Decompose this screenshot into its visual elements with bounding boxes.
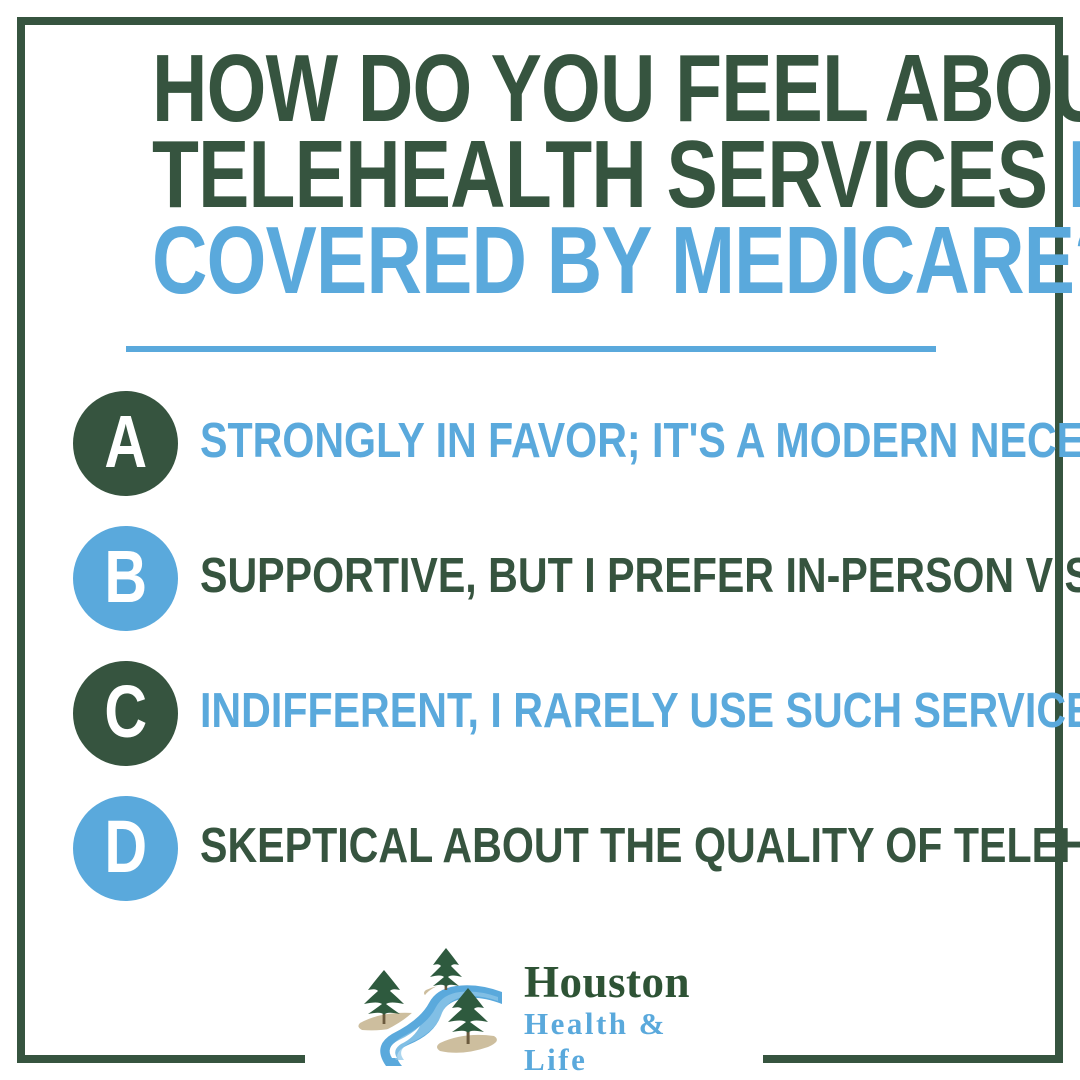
frame-border-top [17,17,1063,25]
frame-border-bottom-right [763,1055,1063,1063]
option-letter-d: D [104,810,147,884]
option-letter-b: B [104,540,147,614]
logo-wordmark: Houston Health & Life [524,958,732,1078]
option-text-c: INDIFFERENT, I RARELY USE SUCH SERVICES. [200,685,897,737]
title-divider-rule [126,346,936,352]
frame-border-bottom-left [17,1055,305,1063]
river-with-trees-icon [352,948,512,1066]
option-badge-b[interactable]: B [73,526,178,631]
brand-logo: Houston Health & Life [352,948,732,1066]
option-badge-c[interactable]: C [73,661,178,766]
option-text-a: STRONGLY IN FAVOR; IT'S A MODERN NECESSI… [200,415,897,467]
page-title: HOW DO YOU FEEL ABOUT TELEHEALTH SERVICE… [55,46,1025,304]
option-badge-d[interactable]: D [73,796,178,901]
poll-option-c[interactable]: C INDIFFERENT, I RARELY USE SUCH SERVICE… [0,652,1080,787]
logo-name: Houston [524,958,732,1006]
poll-option-b[interactable]: B SUPPORTIVE, BUT I PREFER IN-PERSON VIS… [0,517,1080,652]
option-text-b: SUPPORTIVE, BUT I PREFER IN-PERSON VISIT… [200,550,897,602]
title-line-1: HOW DO YOU FEEL ABOUT [152,46,928,132]
option-text-d: SKEPTICAL ABOUT THE QUALITY OF TELEHEALT… [200,820,897,872]
poll-option-a[interactable]: A STRONGLY IN FAVOR; IT'S A MODERN NECES… [0,382,1080,517]
poll-option-d[interactable]: D SKEPTICAL ABOUT THE QUALITY OF TELEHEA… [0,787,1080,922]
poll-options-list: A STRONGLY IN FAVOR; IT'S A MODERN NECES… [0,382,1080,922]
poll-graphic-canvas: HOW DO YOU FEEL ABOUT TELEHEALTH SERVICE… [0,0,1080,1080]
title-line-3: COVERED BY MEDICARE? [152,218,928,304]
title-line-2: TELEHEALTH SERVICES BEING [152,132,928,218]
logo-tagline: Health & Life [524,1006,732,1078]
option-letter-c: C [104,675,147,749]
option-letter-a: A [104,405,147,479]
option-badge-a[interactable]: A [73,391,178,496]
